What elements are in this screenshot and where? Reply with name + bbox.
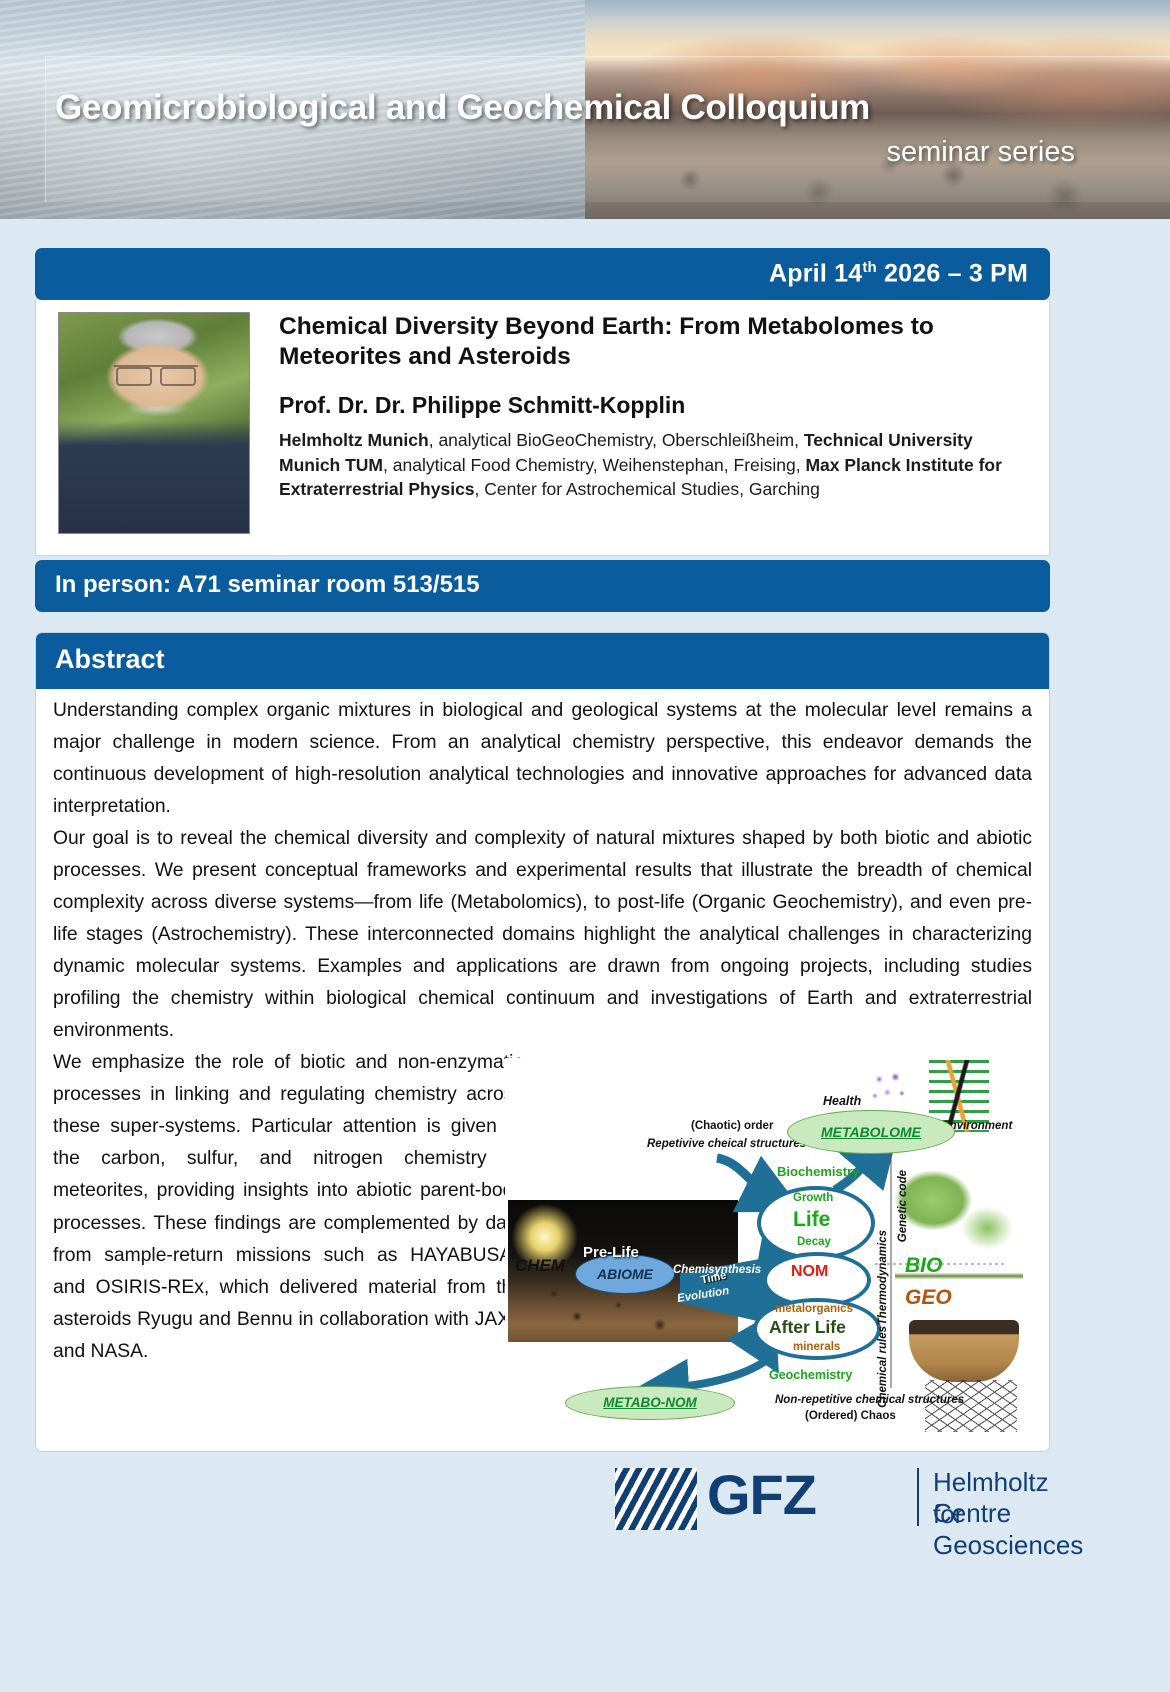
- abstract-header: Abstract: [36, 633, 1049, 689]
- label-chaotic-order: (Chaotic) order: [691, 1120, 773, 1132]
- abstract-narrow-column: We emphasize the role of biotic and non-…: [53, 1047, 523, 1367]
- event-date-rest: 2026 – 3 PM: [877, 259, 1028, 287]
- talk-title: Chemical Diversity Beyond Earth: From Me…: [279, 312, 1024, 372]
- label-non-repetitive: Non-repetitive chemical structures: [775, 1394, 964, 1406]
- label-pre-life: Pre-Life: [583, 1244, 639, 1261]
- label-geo: GEO: [905, 1286, 952, 1310]
- label-repetitive-structures: Repetivive cheical structures: [647, 1138, 806, 1150]
- label-growth: Growth: [793, 1192, 833, 1204]
- label-metabo-nom: METABO-NOM: [565, 1386, 735, 1420]
- speaker-name: Prof. Dr. Dr. Philippe Schmitt-Kopplin: [279, 392, 1024, 419]
- label-minerals: minerals: [793, 1341, 840, 1353]
- label-life: Life: [793, 1208, 830, 1232]
- glasses-icon: [114, 365, 198, 380]
- label-metalorganics: metalorganics: [775, 1303, 853, 1315]
- label-health: Health: [823, 1094, 861, 1108]
- speaker-affiliation: Helmholtz Munich, analytical BioGeoChemi…: [279, 428, 1034, 502]
- concept-diagram: CHEM ABIOME Pre-Life Time Chemisynthesis…: [505, 1058, 1025, 1438]
- label-ordered-chaos: (Ordered) Chaos: [805, 1410, 896, 1422]
- banner-title: Geomicrobiological and Geochemical Collo…: [55, 88, 1075, 128]
- label-after-life: After Life: [769, 1317, 846, 1338]
- abstract-paragraph-2: Our goal is to reveal the chemical diver…: [53, 823, 1032, 1047]
- gfz-hatch-icon: [615, 1468, 697, 1530]
- label-thermodynamics: Thermodynamics: [877, 1230, 889, 1325]
- label-genetic-code: Genetic code: [897, 1170, 909, 1242]
- header-banner: Geomicrobiological and Geochemical Collo…: [0, 0, 1170, 219]
- event-date-suffix: th: [862, 259, 877, 276]
- gfz-subtitle-line2: for Geosciences: [933, 1499, 1083, 1561]
- abstract-paragraph-1: Understanding complex organic mixtures i…: [53, 695, 1032, 823]
- label-chem: CHEM: [515, 1256, 565, 1276]
- label-geochemistry: Geochemistry: [769, 1368, 852, 1382]
- label-bio: BIO: [905, 1254, 942, 1278]
- label-chemisynthesis: Chemisynthesis: [673, 1264, 761, 1276]
- label-biochemistry: Biochemistry: [777, 1164, 859, 1179]
- abstract-heading: Abstract: [55, 644, 165, 675]
- label-nom: NOM: [791, 1263, 828, 1281]
- label-decay: Decay: [797, 1236, 831, 1248]
- gfz-logo: GFZ Helmholtz Centre for Geosciences: [615, 1460, 1055, 1540]
- gfz-wordmark: GFZ: [707, 1462, 816, 1527]
- speaker-card: Chemical Diversity Beyond Earth: From Me…: [35, 300, 1050, 556]
- logo-divider: [917, 1468, 919, 1526]
- label-metabolome: METABOLOME: [787, 1110, 955, 1154]
- banner-overlay: [45, 56, 1170, 202]
- banner-subtitle: seminar series: [55, 136, 1075, 169]
- location-text: In person: A71 seminar room 513/515: [55, 571, 480, 599]
- location-bar: In person: A71 seminar room 513/515: [35, 560, 1050, 612]
- label-chemical-rules: Chemical rules: [877, 1326, 889, 1408]
- event-date-monthday: April 14: [769, 259, 862, 287]
- event-date-bar: April 14th 2026 – 3 PM: [35, 248, 1050, 300]
- event-date-text: April 14th 2026 – 3 PM: [769, 259, 1028, 288]
- speaker-portrait: [58, 312, 250, 534]
- abstract-paragraph-3: We emphasize the role of biotic and non-…: [53, 1047, 523, 1367]
